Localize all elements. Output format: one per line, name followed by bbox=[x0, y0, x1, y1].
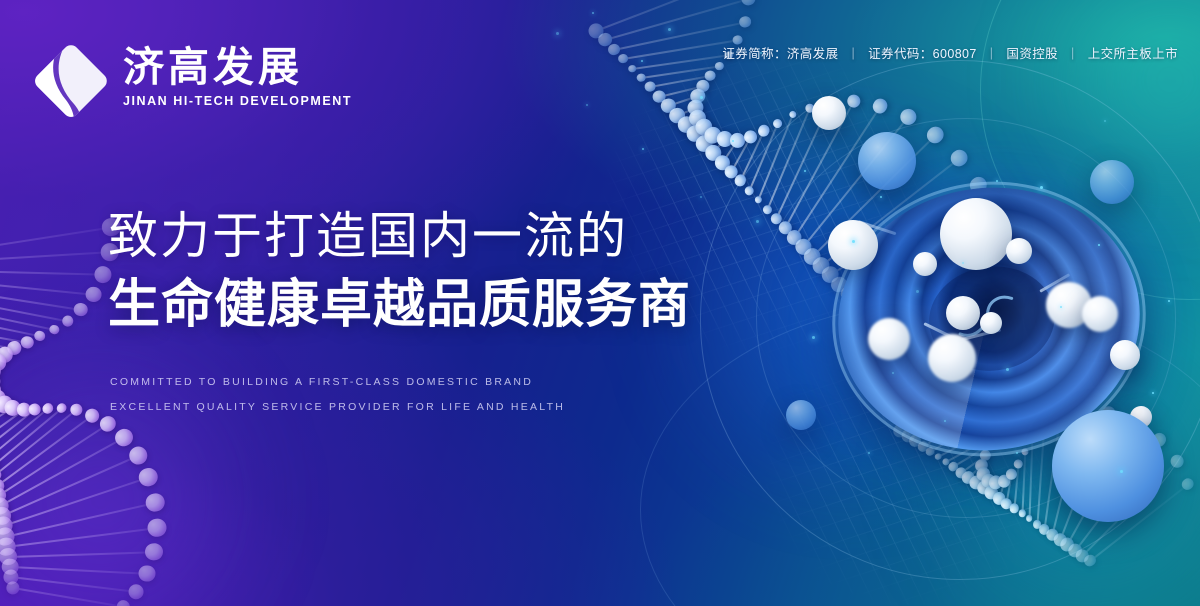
logo-name-en: JINAN HI-TECH DEVELOPMENT bbox=[123, 94, 352, 108]
headline-line-2: 生命健康卓越品质服务商 bbox=[108, 274, 691, 336]
ticker-separator: | bbox=[838, 46, 868, 60]
hero-headline: 致力于打造国内一流的 生命健康卓越品质服务商 bbox=[108, 205, 691, 336]
ticker-separator: | bbox=[977, 46, 1007, 60]
ticker-separator: | bbox=[1058, 46, 1088, 60]
listing-board: 上交所主板上市 bbox=[1088, 43, 1178, 62]
logo-text-block: 济高发展 JINAN HI-TECH DEVELOPMENT bbox=[123, 44, 352, 108]
ownership-type: 国资控股 bbox=[1006, 43, 1058, 62]
subtitle-line-2: EXCELLENT QUALITY SERVICE PROVIDER FOR L… bbox=[110, 395, 565, 420]
stock-abbreviation: 证券简称：济高发展 bbox=[722, 43, 838, 62]
jinan-hi-tech-diamond-leaf-logo-icon bbox=[34, 44, 108, 118]
subtitle-line-1: COMMITTED TO BUILDING A FIRST-CLASS DOME… bbox=[110, 370, 565, 395]
stock-info-bar: 证券简称：济高发展 | 证券代码：600807 | 国资控股 | 上交所主板上市 bbox=[722, 43, 1178, 62]
stock-code: 证券代码：600807 bbox=[868, 43, 977, 62]
hero-banner: 证券简称：济高发展 | 证券代码：600807 | 国资控股 | 上交所主板上市 bbox=[0, 0, 1200, 606]
hero-subtitle: COMMITTED TO BUILDING A FIRST-CLASS DOME… bbox=[110, 370, 565, 419]
headline-line-1: 致力于打造国内一流的 bbox=[108, 205, 691, 268]
logo-name-cn: 济高发展 bbox=[123, 47, 352, 89]
company-logo[interactable]: 济高发展 JINAN HI-TECH DEVELOPMENT bbox=[34, 44, 352, 118]
